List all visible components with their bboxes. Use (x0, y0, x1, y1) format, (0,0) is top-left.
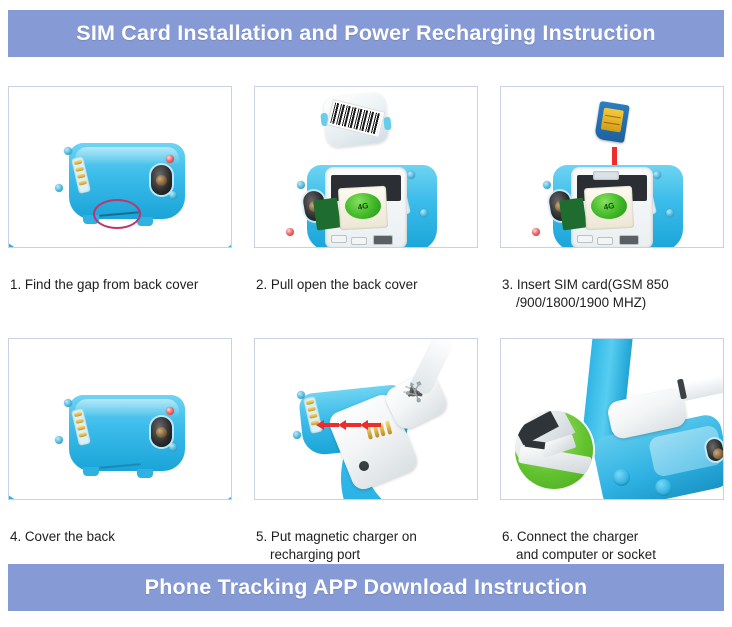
step-1: 1. Find the gap from back cover (8, 86, 232, 330)
step-2-photo: 4G (254, 86, 478, 248)
battery-sticker: 4G (345, 193, 381, 219)
top-banner: SIM Card Installation and Power Rechargi… (8, 10, 724, 57)
step-1-caption-line1: 1. Find the gap from back cover (10, 277, 198, 292)
sim-card (594, 101, 630, 143)
watch-button-2 (655, 479, 672, 496)
step-5-caption-line1: 5. Put magnetic charger on (256, 529, 417, 544)
usb-symbol-icon (401, 379, 429, 405)
instruction-sheet: SIM Card Installation and Power Rechargi… (0, 0, 732, 627)
step-5: 🔌 (254, 338, 478, 582)
bottom-banner: Phone Tracking APP Download Instruction (8, 564, 724, 611)
step-6-caption-line2: and computer or socket (502, 546, 724, 564)
step-1-caption: 1. Find the gap from back cover (8, 258, 232, 298)
step-4-caption: 4. Cover the back (8, 510, 232, 550)
watch-button-1 (613, 469, 630, 486)
step-2-caption-line1: 2. Pull open the back cover (256, 277, 418, 292)
step-3-caption: 3. Insert SIM card(GSM 850 /900/1800/190… (500, 258, 724, 330)
step-3: 4G 3. Insert SIM card(GSM 850 /900/1800/… (500, 86, 724, 330)
step-5-caption-line2: recharging port (256, 546, 478, 564)
step-4-caption-line1: 4. Cover the back (10, 529, 115, 544)
align-arrow-1 (323, 423, 339, 427)
step-3-caption-line2: /900/1800/1900 MHZ) (502, 294, 724, 312)
step-6-photo (500, 338, 724, 500)
top-banner-title: SIM Card Installation and Power Rechargi… (76, 21, 655, 46)
step-3-caption-line1: 3. Insert SIM card(GSM 850 (502, 277, 669, 292)
align-arrow-2 (345, 423, 361, 427)
step-5-photo: 🔌 (254, 338, 478, 500)
step-2: 4G 2. Pull open the back cover (254, 86, 478, 330)
step-6: 6. Connect the charger and computer or s… (500, 338, 724, 582)
step-3-photo: 4G (500, 86, 724, 248)
step-2-caption: 2. Pull open the back cover (254, 258, 478, 298)
align-arrow-3 (367, 423, 381, 427)
step-1-photo (8, 86, 232, 248)
steps-grid: 1. Find the gap from back cover (8, 86, 724, 582)
step-4-photo (8, 338, 232, 500)
step-4: 4. Cover the back (8, 338, 232, 582)
bottom-banner-title: Phone Tracking APP Download Instruction (145, 575, 588, 600)
gap-highlight-ellipse (93, 199, 141, 229)
laptop-port-inset (515, 411, 593, 489)
step-6-caption-line1: 6. Connect the charger (502, 529, 638, 544)
